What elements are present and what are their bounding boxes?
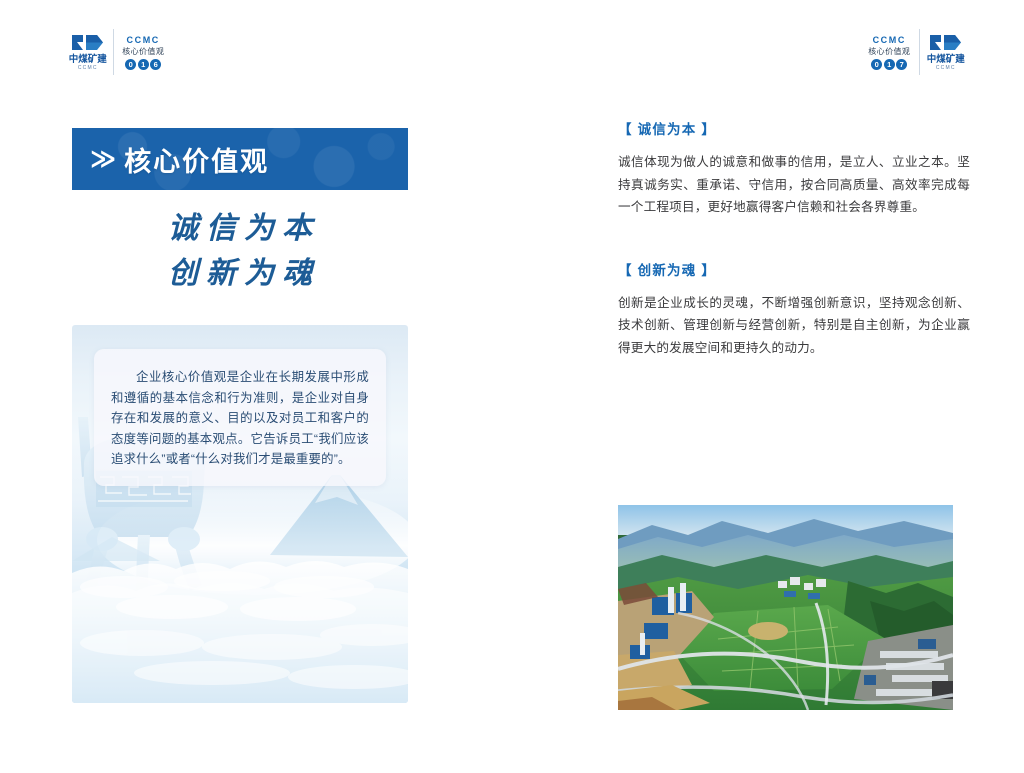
brand-name-en: CCMC [936,65,956,72]
brand-lockup-right: 中煤矿建 CCMC [920,33,972,72]
right-column: 【 诚信为本 】 诚信体现为做人的诚意和做事的信用，是立人、立业之本。坚持真诚务… [618,118,970,359]
folio-en-left: CCMC [127,35,160,46]
slogan-line-2: 创新为魂 [72,251,408,296]
folio-right: CCMC 核心价值观 0 1 7 [860,35,919,70]
ccmc-logo-icon [70,33,106,52]
value-definition-card: 企业核心价值观是企业在长期发展中形成和遵循的基本信念和行为准则，是企业对自身存在… [94,349,386,486]
brand-name-cn: 中煤矿建 [69,54,107,65]
value-definition-text: 企业核心价值观是企业在长期发展中形成和遵循的基本信念和行为准则，是企业对自身存在… [111,367,369,470]
aerial-mine-site-photo [618,505,953,710]
page-header-right: CCMC 核心价值观 0 1 7 中煤矿建 CCMC [860,26,972,78]
slogan-block: 诚信为本 创新为魂 [72,206,408,296]
page-digit: 1 [884,59,895,70]
brand-lockup-left: 中煤矿建 CCMC [62,33,113,72]
section-body-innovation: 创新是企业成长的灵魂，不断增强创新意识，坚持观念创新、技术创新、管理创新与经营创… [618,292,970,360]
page-digit: 6 [150,59,161,70]
section-banner: ≫ 核心价值观 [72,128,408,190]
slogan-line-1: 诚信为本 [72,206,408,251]
section-heading-integrity: 【 诚信为本 】 [618,118,970,138]
chevron-right-icon: ≫ [72,147,124,172]
bronze-ding-vessel-image: 企业核心价值观是企业在长期发展中形成和遵循的基本信念和行为准则，是企业对自身存在… [72,325,408,703]
section-spacer [618,219,970,259]
section-heading-innovation: 【 创新为魂 】 [618,259,970,279]
folio-cn-left: 核心价值观 [122,46,164,57]
page-number-right: 0 1 7 [871,59,907,70]
banner-title: 核心价值观 [124,140,269,179]
ccmc-logo-icon [928,33,964,52]
brand-name-cn: 中煤矿建 [927,54,965,65]
page-digit: 7 [896,59,907,70]
brand-name-en: CCMC [78,65,98,72]
section-body-integrity: 诚信体现为做人的诚意和做事的信用，是立人、立业之本。坚持真诚务实、重承诺、守信用… [618,151,970,219]
folio-en-right: CCMC [873,35,906,46]
aerial-photo-illustration [618,505,953,710]
page-digit: 1 [138,59,149,70]
page-number-left: 0 1 6 [125,59,161,70]
page-header-left: 中煤矿建 CCMC CCMC 核心价值观 0 1 6 [62,26,172,78]
folio-cn-right: 核心价值观 [868,46,910,57]
page-digit: 0 [125,59,136,70]
folio-left: CCMC 核心价值观 0 1 6 [114,35,172,70]
page-digit: 0 [871,59,882,70]
